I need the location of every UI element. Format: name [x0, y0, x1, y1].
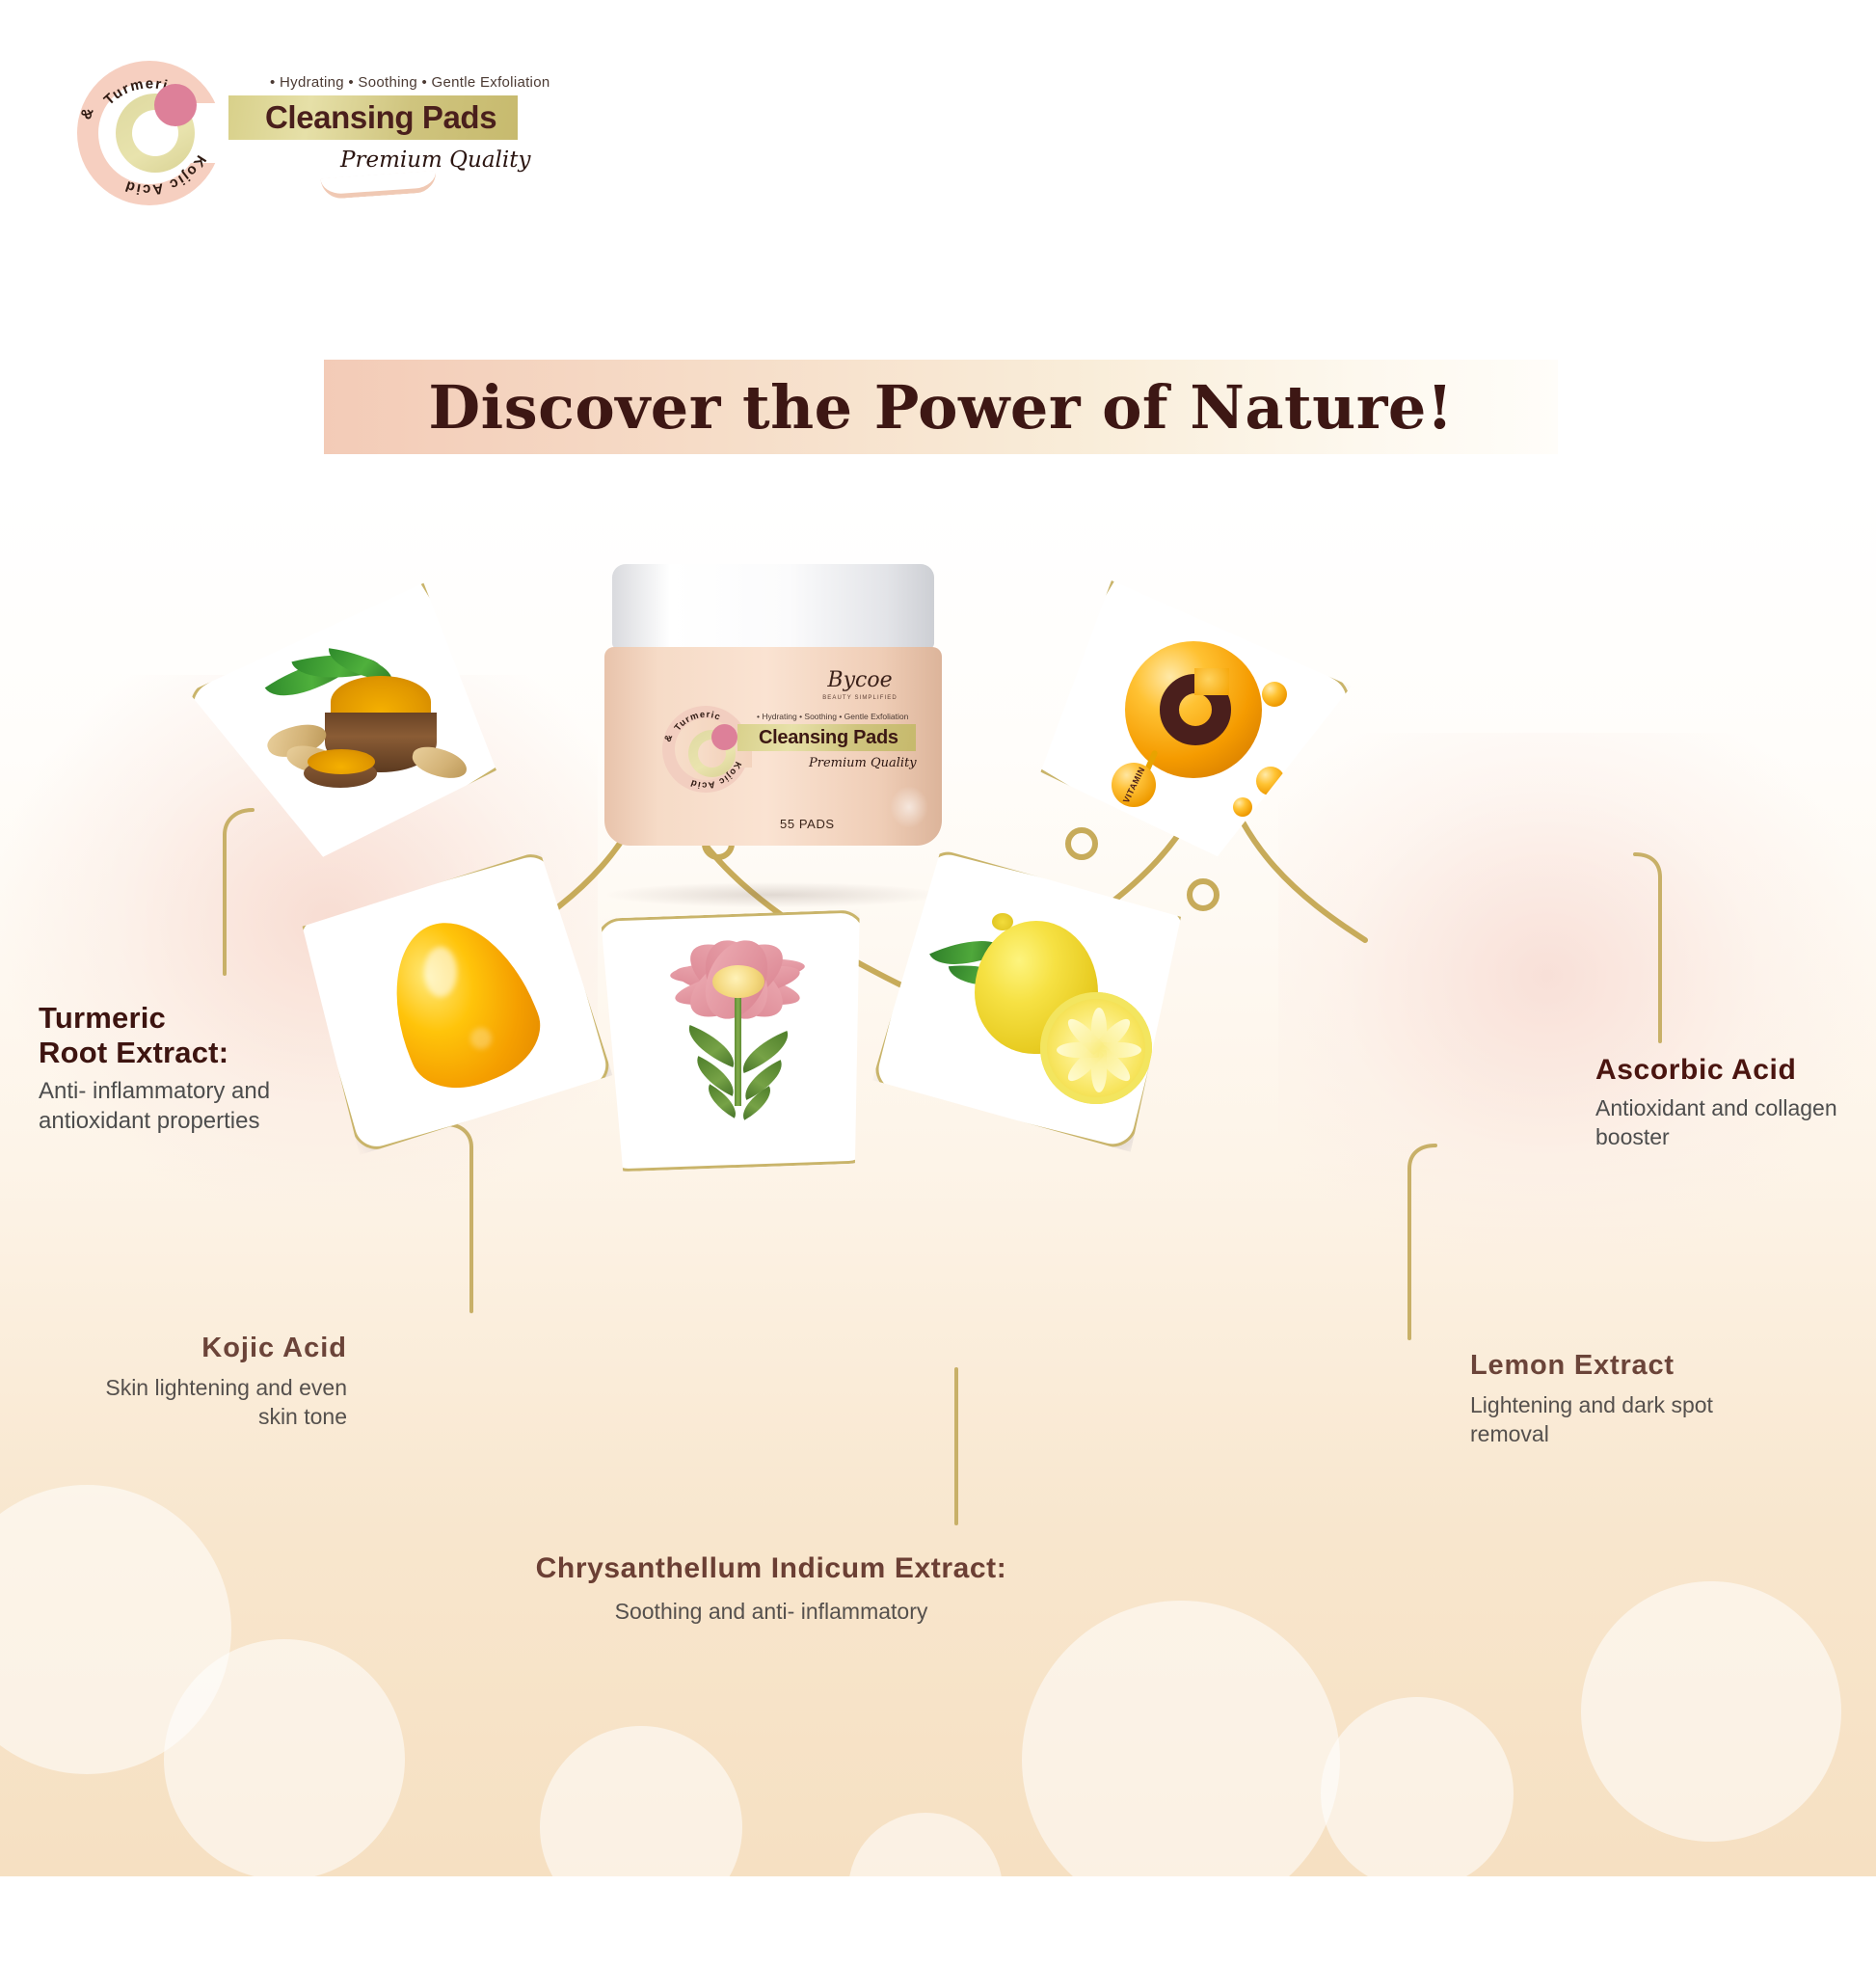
brand-logo: Turmeric Kojic Acid & • Hydrating • Soot… [72, 53, 535, 217]
product-jar: Bycoe BEAUTY SIMPLIFIED Turmeric Kojic A… [604, 564, 942, 853]
label-chrysanthellum-title: Chrysanthellum Indicum Extract: [415, 1552, 1128, 1585]
jar-label-title: Cleansing Pads [759, 724, 916, 751]
jar-pad-count: 55 PADS [780, 817, 835, 831]
logo-swoosh [320, 171, 437, 200]
label-lemon: Lemon Extract Lightening and dark spot r… [1470, 1350, 1779, 1449]
label-chrysanthellum-desc: Soothing and anti- inflammatory [415, 1599, 1128, 1625]
label-chrysanthellum: Chrysanthellum Indicum Extract: Soothing… [415, 1552, 1128, 1625]
label-kojic-title: Kojic Acid [67, 1333, 347, 1364]
logo-pink-dot [154, 84, 197, 126]
lemon-fruit-icon [899, 878, 1162, 1120]
logo-title: Cleansing Pads [265, 95, 518, 140]
label-kojic-desc: Skin lightening and even skin tone [67, 1374, 347, 1432]
jar-brand-block: Bycoe BEAUTY SIMPLIFIED [802, 668, 918, 701]
jar-label-premium: Premium Quality [809, 756, 917, 770]
background-glow-right [1278, 733, 1876, 1273]
headline-banner: Discover the Power of Nature! [324, 360, 1558, 454]
label-turmeric-title-line2: Root Extract: [39, 1036, 299, 1070]
logo-bullets: • Hydrating • Soothing • Gentle Exfoliat… [270, 74, 549, 91]
pink-chrysanthemum-flower-icon [603, 917, 867, 1165]
jar-brand-name: Bycoe [802, 668, 918, 692]
label-lemon-title: Lemon Extract [1470, 1350, 1779, 1382]
page-title: Discover the Power of Nature! [428, 372, 1453, 443]
jar-label: Turmeric Kojic Acid & • Hydrating • Soot… [662, 706, 932, 798]
label-turmeric-title-line1: Turmeric [39, 1001, 299, 1036]
jar-highlight [890, 786, 928, 828]
svg-text:&: & [662, 733, 675, 744]
label-lemon-desc: Lightening and dark spot removal [1470, 1391, 1779, 1449]
svg-text:&: & [78, 104, 97, 121]
jar-brand-tagline: BEAUTY SIMPLIFIED [802, 695, 918, 701]
jar-lid [612, 564, 934, 649]
jar-shadow [607, 882, 940, 907]
golden-oil-drop-icon [324, 883, 583, 1120]
label-kojic-acid: Kojic Acid Skin lightening and even skin… [67, 1333, 347, 1432]
jar-label-bullets: • Hydrating • Soothing • Gentle Exfoliat… [757, 712, 908, 721]
vitamin-badge-label: VITAMIN [1121, 766, 1147, 805]
vitamin-badge: VITAMIN [1112, 763, 1156, 807]
label-turmeric: Turmeric Root Extract: Anti- inflammator… [39, 1001, 299, 1137]
jar-label-pink-dot [711, 724, 737, 750]
label-ascorbic-acid: Ascorbic Acid Antioxidant and collagen b… [1595, 1054, 1876, 1152]
label-ascorbic-title: Ascorbic Acid [1595, 1054, 1876, 1087]
logo-premium-text: Premium Quality [340, 148, 531, 173]
ingredient-card-chrysanthellum[interactable] [595, 909, 873, 1172]
label-turmeric-desc: Anti- inflammatory and antioxidant prope… [39, 1077, 299, 1136]
label-ascorbic-desc: Antioxidant and collagen booster [1595, 1094, 1876, 1152]
